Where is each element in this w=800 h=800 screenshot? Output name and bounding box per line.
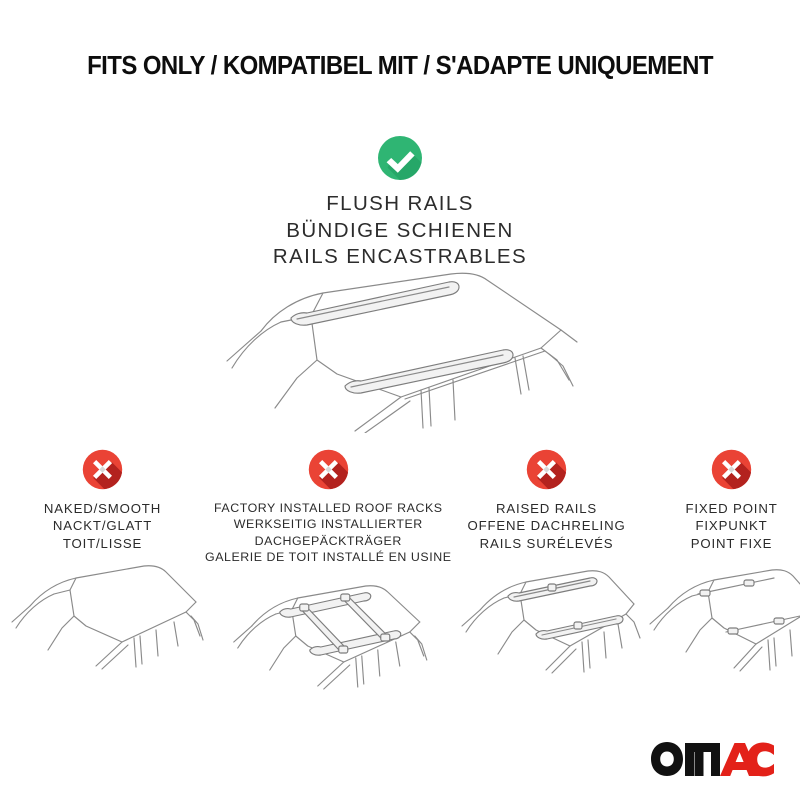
cross-circle-icon xyxy=(307,448,350,491)
car-roof-fixed-point-illustration xyxy=(642,562,800,682)
check-circle-icon xyxy=(376,134,424,182)
fixed-point-labels: FIXED POINT FIXPUNKT POINT FIXE xyxy=(685,500,777,552)
naked-smooth-labels: NAKED/SMOOTH NACKT/GLATT TOIT/LISSE xyxy=(44,500,161,552)
cross-circle-icon xyxy=(710,448,753,491)
page-title: FITS ONLY / KOMPATIBEL MIT / S'ADAPTE UN… xyxy=(24,52,776,81)
car-roof-flush-rails-illustration xyxy=(205,268,605,433)
incompatible-option-naked-smooth: NAKED/SMOOTH NACKT/GLATT TOIT/LISSE xyxy=(0,448,205,696)
incompatible-options-grid: NAKED/SMOOTH NACKT/GLATT TOIT/LISSE xyxy=(0,448,800,696)
fixed-point-label-fr: POINT FIXE xyxy=(685,535,777,552)
cross-circle-icon xyxy=(81,448,124,491)
compatible-option: FLUSH RAILS BÜNDIGE SCHIENEN RAILS ENCAS… xyxy=(0,134,800,271)
factory-racks-label-de2: DACHGEPÄCKTRÄGER xyxy=(205,533,452,549)
raised-rails-label-fr: RAILS SURÉLEVÉS xyxy=(467,535,625,552)
incompatible-option-factory-racks: FACTORY INSTALLED ROOF RACKS WERKSEITIG … xyxy=(205,448,452,696)
factory-racks-label-en: FACTORY INSTALLED ROOF RACKS xyxy=(205,500,452,516)
car-roof-naked-smooth-illustration xyxy=(0,562,205,682)
incompatible-option-fixed-point: FIXED POINT FIXPUNKT POINT FIXE xyxy=(642,448,800,696)
compatible-label-en: FLUSH RAILS xyxy=(0,191,800,218)
raised-rails-labels: RAISED RAILS OFFENE DACHRELING RAILS SUR… xyxy=(467,500,625,552)
naked-smooth-label-fr: TOIT/LISSE xyxy=(44,535,161,552)
fixed-point-label-de: FIXPUNKT xyxy=(685,517,777,534)
omac-logo xyxy=(648,740,776,778)
naked-smooth-label-de: NACKT/GLATT xyxy=(44,517,161,534)
incompatible-option-raised-rails: RAISED RAILS OFFENE DACHRELING RAILS SUR… xyxy=(452,448,642,696)
omac-logo-letter-o xyxy=(651,742,683,776)
raised-rails-label-de: OFFENE DACHRELING xyxy=(467,517,625,534)
compatible-label-fr: RAILS ENCASTRABLES xyxy=(0,244,800,271)
car-roof-raised-rails-illustration xyxy=(452,562,642,682)
raised-rails-label-en: RAISED RAILS xyxy=(467,500,625,517)
naked-smooth-label-en: NAKED/SMOOTH xyxy=(44,500,161,517)
omac-logo-letter-m xyxy=(685,743,720,776)
fixed-point-label-en: FIXED POINT xyxy=(685,500,777,517)
factory-racks-label-fr: GALERIE DE TOIT INSTALLÉ EN USINE xyxy=(205,549,452,565)
compatible-option-labels: FLUSH RAILS BÜNDIGE SCHIENEN RAILS ENCAS… xyxy=(0,191,800,271)
factory-racks-labels: FACTORY INSTALLED ROOF RACKS WERKSEITIG … xyxy=(205,500,452,566)
compatible-label-de: BÜNDIGE SCHIENEN xyxy=(0,218,800,245)
factory-racks-label-de1: WERKSEITIG INSTALLIERTER xyxy=(205,516,452,532)
cross-circle-icon xyxy=(525,448,568,491)
car-roof-factory-racks-illustration xyxy=(205,576,452,696)
